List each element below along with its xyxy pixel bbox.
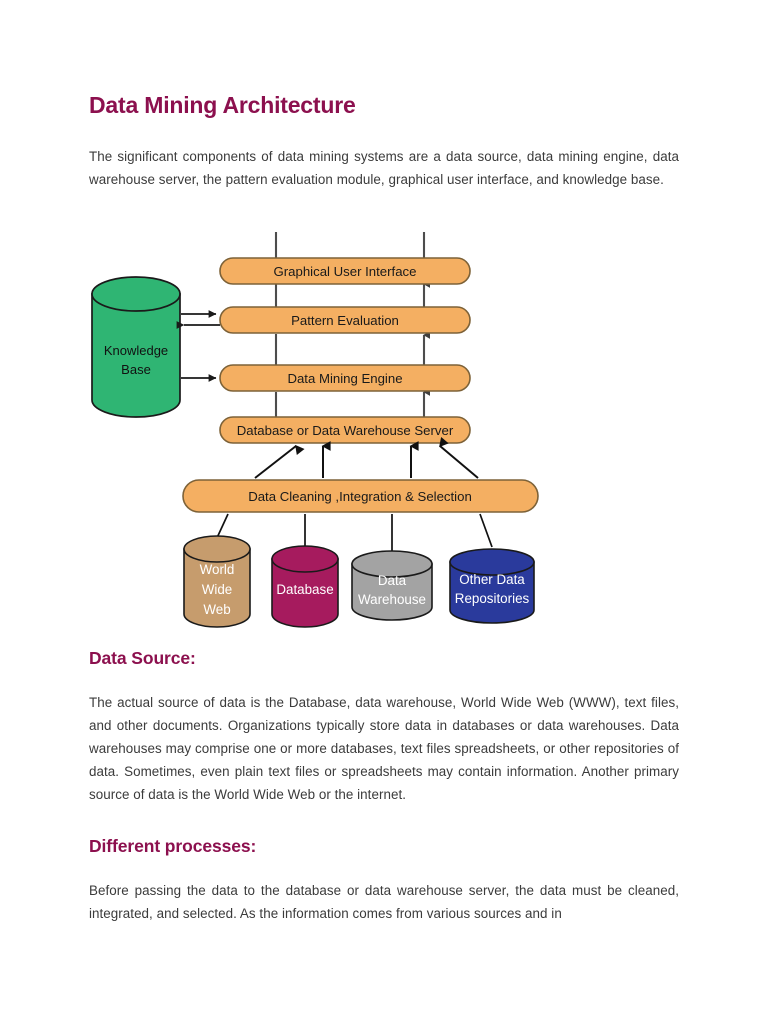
process-box-pattern-evaluation-label: Pattern Evaluation xyxy=(291,313,399,328)
cleaning-to-server-arrows xyxy=(255,446,478,478)
process-box-database-or-data-warehouse-server[interactable]: Database or Data Warehouse Server xyxy=(220,417,470,443)
data-source-world-wide-web-line3: Web xyxy=(203,602,230,617)
process-box-gui[interactable]: Graphical User Interface xyxy=(220,258,470,284)
section-paragraph-different-processes: Before passing the data to the database … xyxy=(89,879,679,925)
sources-to-cleaning-connectors xyxy=(216,514,492,552)
process-box-data-mining-engine[interactable]: Data Mining Engine xyxy=(220,365,470,391)
data-source-world-wide-web-line2: Wide xyxy=(202,582,233,597)
knowledge-base-label-line2: Base xyxy=(121,362,151,377)
data-source-world-wide-web-line1: World xyxy=(200,562,235,577)
process-box-data-cleaning[interactable]: Data Cleaning ,Integration & Selection xyxy=(183,480,538,512)
data-source-other-data-repositories[interactable]: Other Data Repositories xyxy=(450,549,534,623)
section-paragraph-data-source: The actual source of data is the Databas… xyxy=(89,691,679,806)
section-heading-different-processes: Different processes: xyxy=(89,836,679,857)
data-source-database-line1: Database xyxy=(276,582,333,597)
knowledge-base-cylinder: Knowledge Base xyxy=(92,277,180,417)
document-page: Data Mining Architecture The significant… xyxy=(0,0,768,1024)
process-box-data-mining-engine-label: Data Mining Engine xyxy=(287,371,402,386)
knowledge-base-label-line1: Knowledge xyxy=(104,343,168,358)
data-source-other-data-repositories-line1: Other Data xyxy=(459,572,525,587)
page-title: Data Mining Architecture xyxy=(89,92,679,118)
section-different-processes: Different processes: Before passing the … xyxy=(89,836,679,925)
section-heading-data-source: Data Source: xyxy=(89,648,679,669)
document-content: Data Mining Architecture The significant… xyxy=(89,92,679,192)
data-source-data-warehouse-line2: Warehouse xyxy=(358,592,426,607)
architecture-diagram: Knowledge Base Graphical User Interface … xyxy=(80,222,550,637)
data-source-data-warehouse[interactable]: Data Warehouse xyxy=(352,551,432,620)
process-box-database-server-label: Database or Data Warehouse Server xyxy=(237,423,454,438)
section-data-source: Data Source: The actual source of data i… xyxy=(89,648,679,806)
kb-pattern-evaluation-connector xyxy=(181,314,220,325)
data-source-database[interactable]: Database xyxy=(272,546,338,627)
data-source-data-warehouse-line1: Data xyxy=(378,573,407,588)
process-box-gui-label: Graphical User Interface xyxy=(274,264,417,279)
process-box-pattern-evaluation[interactable]: Pattern Evaluation xyxy=(220,307,470,333)
data-source-other-data-repositories-line2: Repositories xyxy=(455,591,530,606)
process-box-data-cleaning-label: Data Cleaning ,Integration & Selection xyxy=(248,489,472,504)
intro-paragraph: The significant components of data minin… xyxy=(89,145,679,191)
data-source-world-wide-web[interactable]: World Wide Web xyxy=(184,536,250,627)
